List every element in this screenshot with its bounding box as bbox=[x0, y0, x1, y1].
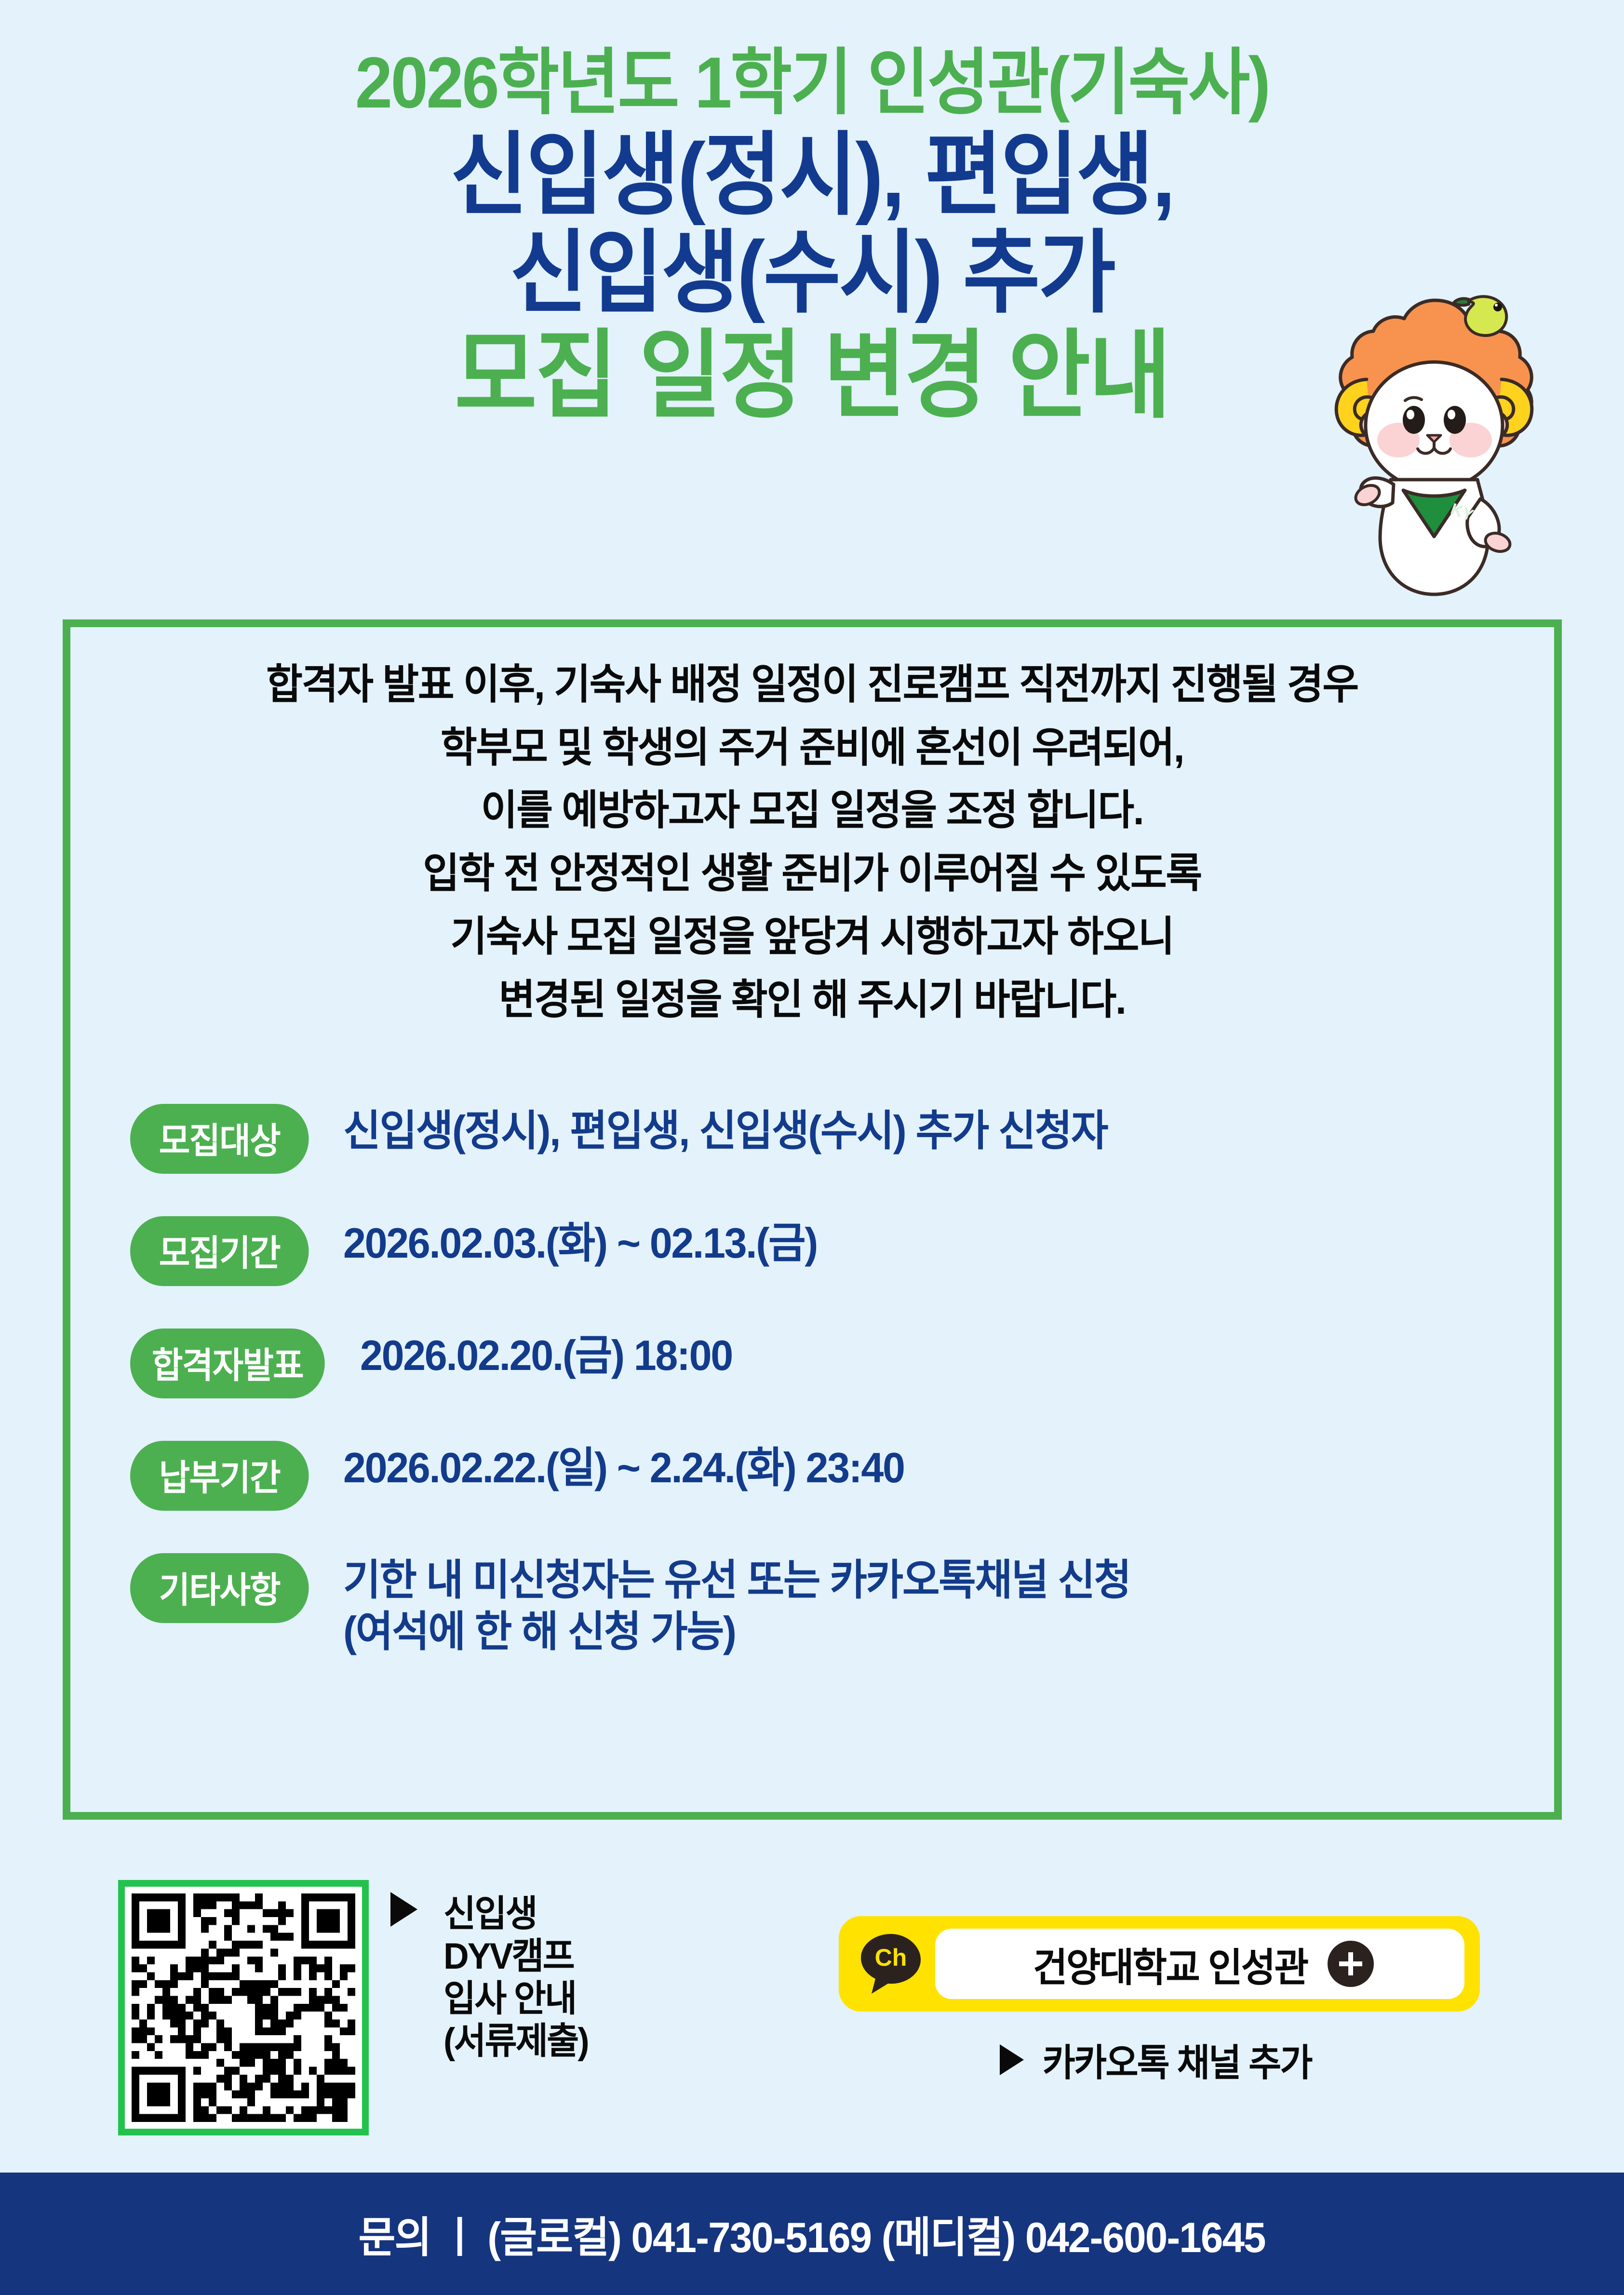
kakao-channel-name: 건양대학교 인성관 bbox=[1033, 1935, 1307, 1993]
triangle-arrow-icon bbox=[390, 1892, 417, 1927]
badge-label-target: 모집대상 bbox=[130, 1104, 309, 1174]
kakao-channel-name-box: 건양대학교 인성관 bbox=[935, 1929, 1464, 1999]
info-value-announcement: 2026.02.20.(금) 18:00 bbox=[360, 1329, 732, 1381]
kakao-block[interactable]: Ch 건양대학교 인성관 카카오톡 채널 추가 bbox=[839, 1916, 1514, 2087]
kakao-channel-icon: Ch bbox=[857, 1930, 925, 1998]
notice-line: 이를 예방하고자 모집 일정을 조정 합니다. bbox=[102, 779, 1522, 842]
badge-label-payment: 납부기간 bbox=[130, 1441, 309, 1511]
badge-label-period: 모집기간 bbox=[130, 1216, 309, 1286]
title-line-1: 2026학년도 1학기 인성관(기숙사) bbox=[57, 43, 1567, 121]
info-row-announcement: 합격자발표 2026.02.20.(금) 18:00 bbox=[130, 1329, 1504, 1398]
info-row-target: 모집대상 신입생(정시), 편입생, 신입생(수시) 추가 신청자 bbox=[130, 1104, 1504, 1174]
info-row-period: 모집기간 2026.02.03.(화) ~ 02.13.(금) bbox=[130, 1216, 1504, 1286]
sheep-mascot-icon: KY bbox=[1309, 272, 1559, 600]
info-row-other: 기타사항 기한 내 미신청자는 유선 또는 카카오톡채널 신청 (여석에 한 해… bbox=[130, 1553, 1504, 1658]
info-rows: 모집대상 신입생(정시), 편입생, 신입생(수시) 추가 신청자 모집기간 2… bbox=[130, 1104, 1504, 1658]
qr-code-icon[interactable] bbox=[132, 1893, 355, 2122]
notice-line: 기숙사 모집 일정을 앞당겨 시행하고자 하오니 bbox=[102, 905, 1522, 968]
info-value-payment: 2026.02.22.(일) ~ 2.24.(화) 23:40 bbox=[343, 1442, 904, 1493]
qr-block[interactable] bbox=[118, 1880, 369, 2135]
qr-code-frame[interactable] bbox=[118, 1880, 369, 2135]
kakao-add-row: 카카오톡 채널 추가 bbox=[839, 2033, 1480, 2087]
kakao-add-label: 카카오톡 채널 추가 bbox=[1043, 2033, 1312, 2087]
svg-text:Ch: Ch bbox=[875, 1944, 907, 1971]
plus-icon[interactable] bbox=[1328, 1941, 1374, 1987]
title-line-2: 신입생(정시), 편입생, bbox=[57, 126, 1567, 224]
info-value-target: 신입생(정시), 편입생, 신입생(수시) 추가 신청자 bbox=[343, 1105, 1107, 1156]
poster-root: 2026학년도 1학기 인성관(기숙사) 신입생(정시), 편입생, 신입생(수… bbox=[0, 0, 1624, 2295]
notice-line: 입학 전 안정적인 생활 준비가 이루어질 수 있도록 bbox=[102, 842, 1522, 905]
info-value-other: 기한 내 미신청자는 유선 또는 카카오톡채널 신청 (여석에 한 해 신청 가… bbox=[343, 1554, 1130, 1658]
info-value-period: 2026.02.03.(화) ~ 02.13.(금) bbox=[343, 1217, 817, 1269]
notice-line: 합격자 발표 이후, 기숙사 배정 일정이 진로캠프 직전까지 진행될 경우 bbox=[102, 653, 1522, 716]
info-row-payment: 납부기간 2026.02.22.(일) ~ 2.24.(화) 23:40 bbox=[130, 1441, 1504, 1511]
footer-bar: 문의 ㅣ (글로컬) 041-730-5169 (메디컬) 042-600-16… bbox=[0, 2173, 1624, 2295]
notice-paragraph: 합격자 발표 이후, 기숙사 배정 일정이 진로캠프 직전까지 진행될 경우 학… bbox=[102, 653, 1522, 1031]
badge-label-other: 기타사항 bbox=[130, 1553, 309, 1623]
badge-label-announcement: 합격자발표 bbox=[130, 1329, 325, 1398]
notice-line: 변경된 일정을 확인 해 주시기 바랍니다. bbox=[102, 968, 1522, 1032]
qr-caption: 신입생 DYV캠프 입사 안내 (서류제출) bbox=[443, 1893, 588, 2063]
kakao-channel-button[interactable]: Ch 건양대학교 인성관 bbox=[839, 1916, 1480, 2012]
triangle-arrow-icon bbox=[1000, 2044, 1024, 2075]
footer-contact-text: 문의 ㅣ (글로컬) 041-730-5169 (메디컬) 042-600-16… bbox=[359, 2203, 1265, 2265]
notice-line: 학부모 및 학생의 주거 준비에 혼선이 우려되어, bbox=[102, 716, 1522, 779]
